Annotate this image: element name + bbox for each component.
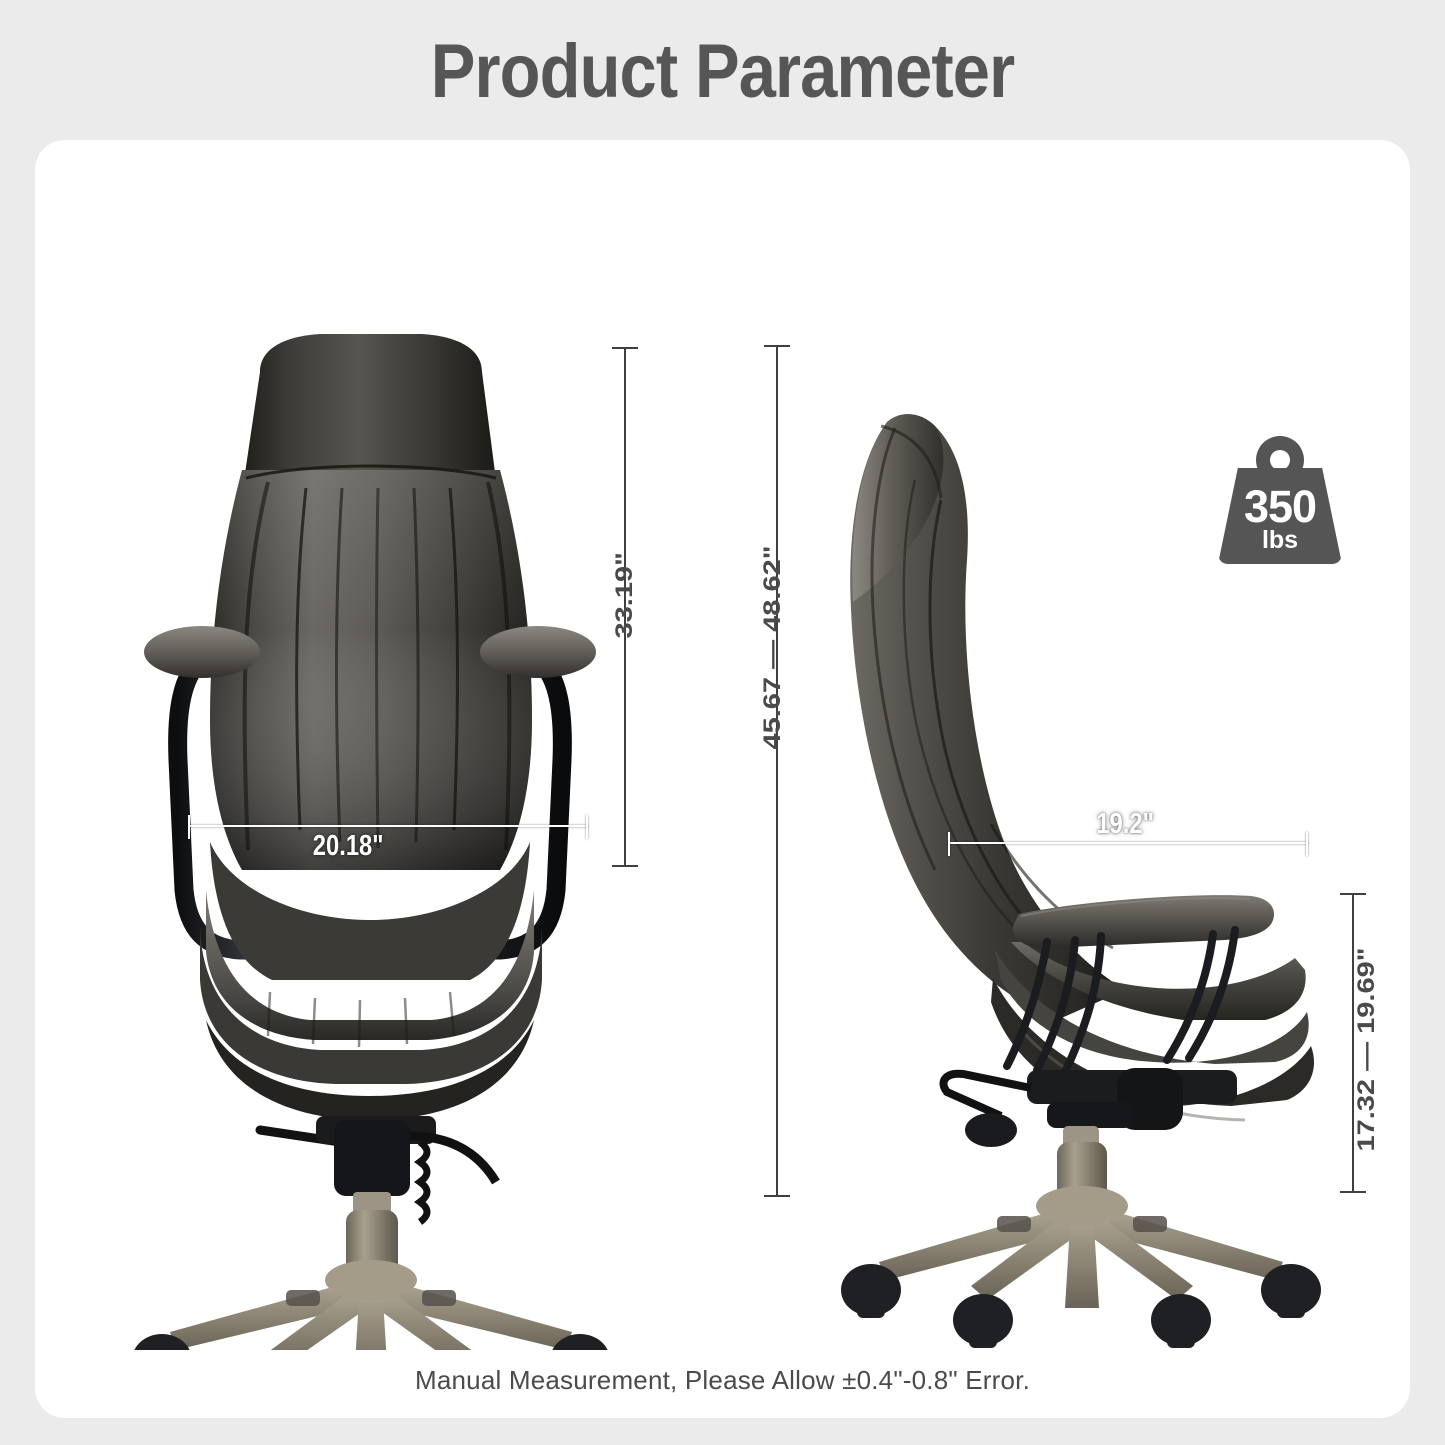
back-height-cap-top xyxy=(612,347,638,349)
back-height-label: 33.19" xyxy=(611,579,638,639)
overall-height-line xyxy=(776,345,778,1197)
seat-depth-line xyxy=(948,842,1308,844)
overall-height-cap-top xyxy=(764,345,790,347)
weight-icon-handle-hole xyxy=(1270,450,1290,470)
content-card: 33.19" 20.18" 45.67 — 48.62" 19.2" xyxy=(35,140,1410,1418)
measurement-disclaimer: Manual Measurement, Please Allow ±0.4"-0… xyxy=(35,1365,1410,1396)
weight-capacity-value: 350 xyxy=(1218,484,1342,529)
seat-width-label: 20.18" xyxy=(313,830,384,863)
product-parameter-diagram: Product Parameter xyxy=(0,0,1445,1445)
seat-height-label: 17.32 — 19.69" xyxy=(1353,940,1380,1160)
seat-height-cap-bottom xyxy=(1340,1191,1366,1193)
seat-width-cap-right xyxy=(586,815,588,839)
seat-depth-label: 19.2" xyxy=(1096,808,1154,841)
weight-capacity-unit: lbs xyxy=(1218,528,1342,553)
weight-capacity-badge: 350 lbs xyxy=(1218,436,1342,564)
back-height-cap-bottom xyxy=(612,865,638,867)
page-title: Product Parameter xyxy=(87,28,1359,115)
seat-width-cap-left xyxy=(188,815,190,839)
seat-depth-cap-right xyxy=(1306,832,1308,856)
overall-height-cap-bottom xyxy=(764,1195,790,1197)
seat-width-line xyxy=(188,825,588,827)
seat-depth-cap-left xyxy=(948,832,950,856)
seat-height-cap-top xyxy=(1340,893,1366,895)
overall-height-label: 45.67 — 48.62" xyxy=(759,538,786,758)
